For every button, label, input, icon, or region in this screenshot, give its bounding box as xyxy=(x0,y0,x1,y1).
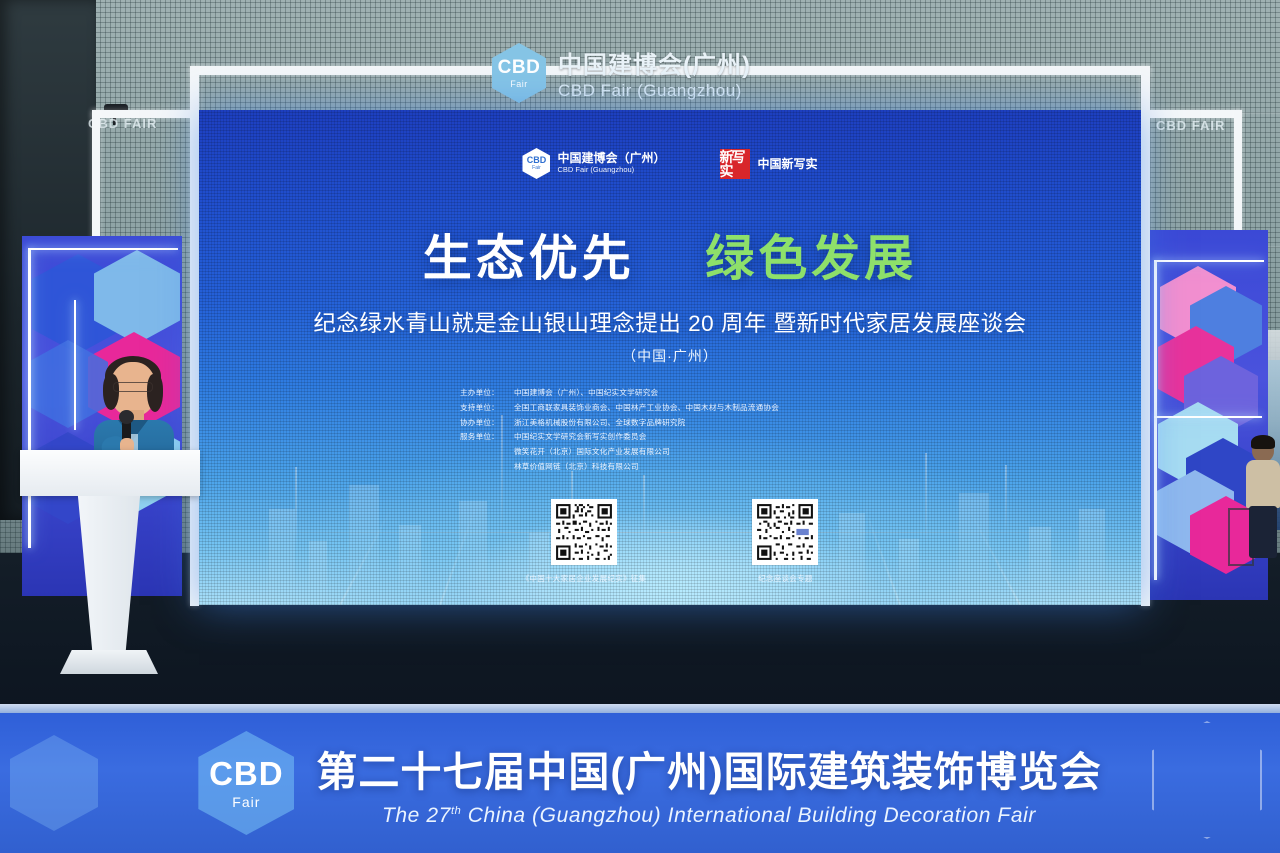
stage-front-edge xyxy=(0,704,1280,713)
led-xinxieshi-logo: 新写实 中国新写实 xyxy=(720,149,818,179)
led-qr-row: 《中国十大家居企业发展纪实》征集 xyxy=(522,499,819,584)
decor-neon-line xyxy=(74,300,76,430)
organizer-label: 支持单位： xyxy=(460,401,514,416)
led-cbd-name-cn: 中国建博会（广州） xyxy=(557,152,665,166)
speaker-hair-side xyxy=(103,374,119,410)
organizer-row: 支持单位： 全国工商联家具装饰业商会、中国林产工业协会、中国木材与木制品流通协会 xyxy=(460,401,880,416)
attendee-person xyxy=(1246,438,1280,558)
led-title-part1: 生态优先 xyxy=(423,232,635,286)
organizer-label: 服务单位： xyxy=(460,430,514,474)
header-title-cn: 中国建博会(广州) xyxy=(558,45,751,80)
attendee-torso xyxy=(1246,460,1280,508)
organizer-value-extra: 林草价值网链（北京）科技有限公司 xyxy=(514,460,880,475)
organizer-value: 浙江美格机械股份有限公司、全球数字品牌研究院 xyxy=(514,416,880,431)
stage-decor-hex-left xyxy=(10,735,98,831)
podium-top xyxy=(20,450,200,496)
decor-neon-line xyxy=(1154,416,1262,418)
microphone-head-icon xyxy=(119,410,134,424)
stage-title-cn: 第二十七届中国(广州)国际建筑装饰博览会 xyxy=(316,738,1101,798)
organizer-value: 全国工商联家具装饰业商会、中国林产工业协会、中国木材与木制品流通协会 xyxy=(514,401,880,416)
qr-code-icon[interactable] xyxy=(551,499,617,565)
speaker-glasses xyxy=(113,382,153,392)
organizer-value: 中国建博会（广州）、中国纪实文学研究会 xyxy=(514,386,880,401)
venue-header-sign: CBD Fair 中国建博会(广州) CBD Fair (Guangzhou) xyxy=(492,42,852,104)
cbd-logo-sub: Fair xyxy=(510,80,528,89)
stage-title-en-pre: The 27 xyxy=(382,804,451,827)
led-content: CBD Fair 中国建博会（广州） CBD Fair (Guangzhou) … xyxy=(199,110,1141,605)
podium-base xyxy=(60,650,158,674)
led-cbd-logo: CBD Fair 中国建博会（广州） CBD Fair (Guangzhou) xyxy=(522,148,665,179)
stage-decor-hex-right xyxy=(1152,721,1262,839)
stage-title-en-sup: th xyxy=(451,805,461,817)
organizer-row: 服务单位： 中国纪实文学研究会新写实创作委员会 微笑花开（北京）国际文化产业发展… xyxy=(460,430,880,474)
led-main-title: 生态优先 绿色发展 xyxy=(423,219,918,290)
cbd-fair-logo-icon: CBD Fair xyxy=(522,148,550,179)
attendee-hair xyxy=(1251,435,1275,449)
organizer-row: 协办单位： 浙江美格机械股份有限公司、全球数字品牌研究院 xyxy=(460,416,880,431)
stage-photo-scene: CBD FAIR CBD FAIR CBD Fair 中国建博会(广州) CBD… xyxy=(0,0,1280,853)
cbd-logo-main: CBD xyxy=(498,58,541,77)
stage-banner-texts: 第二十七届中国(广州)国际建筑装饰博览会 The 27th China (Gua… xyxy=(316,738,1101,828)
organizer-label: 主办单位： xyxy=(460,386,514,401)
qr-caption: 纪念座谈会专题 xyxy=(758,573,813,584)
cbd-logo-sub: Fair xyxy=(232,795,260,809)
led-subtitle: 纪念绿水青山就是金山银山理念提出 20 周年 暨新时代家居发展座谈会 xyxy=(313,306,1026,338)
decor-neon-line xyxy=(1154,260,1264,262)
cbd-logo-sub: Fair xyxy=(532,166,541,171)
truss-beam-right xyxy=(1141,66,1150,606)
led-xinxieshi-name: 中国新写实 xyxy=(758,155,818,172)
stage-title-en-post: China (Guangzhou) International Building… xyxy=(461,804,1036,827)
decor-neon-line xyxy=(28,248,178,250)
stage-title-en: The 27th China (Guangzhou) International… xyxy=(382,804,1036,828)
cbd-fair-logo-icon: CBD Fair xyxy=(492,43,546,103)
qr-code-icon[interactable] xyxy=(752,499,818,565)
cbd-logo-main: CBD xyxy=(527,156,547,165)
truss-arm-right xyxy=(1146,110,1242,118)
podium xyxy=(20,450,200,680)
xinxieshi-seal-icon: 新写实 xyxy=(720,149,750,179)
qr-block: 纪念座谈会专题 xyxy=(752,499,818,584)
led-organizer-block: 主办单位： 中国建博会（广州）、中国纪实文学研究会 支持单位： 全国工商联家具装… xyxy=(460,386,880,475)
organizer-value: 中国纪实文学研究会新写实创作委员会 xyxy=(514,432,647,441)
led-stage-screen: CBD Fair 中国建博会（广州） CBD Fair (Guangzhou) … xyxy=(199,110,1141,605)
stage-banner: CBD Fair 第二十七届中国(广州)国际建筑装饰博览会 The 27th C… xyxy=(0,713,1280,853)
cbd-logo-main: CBD xyxy=(209,757,284,790)
speaker-hair-side xyxy=(147,374,163,412)
led-logo-row: CBD Fair 中国建博会（广州） CBD Fair (Guangzhou) … xyxy=(522,148,817,179)
qr-block: 《中国十大家居企业发展纪实》征集 xyxy=(522,499,647,584)
led-cbd-name-en: CBD Fair (Guangzhou) xyxy=(557,166,665,175)
attendee-legs xyxy=(1249,506,1277,558)
truss-arm-left xyxy=(92,110,196,118)
wall-label-right: CBD FAIR xyxy=(1156,118,1225,133)
organizer-label: 协办单位： xyxy=(460,416,514,431)
cbd-fair-logo-icon: CBD Fair xyxy=(198,731,294,835)
qr-caption: 《中国十大家居企业发展纪实》征集 xyxy=(522,573,647,584)
led-location: （中国·广州） xyxy=(622,346,718,366)
organizer-value-extra: 微笑花开（北京）国际文化产业发展有限公司 xyxy=(514,445,880,460)
organizer-row: 主办单位： 中国建博会（广州）、中国纪实文学研究会 xyxy=(460,386,880,401)
decor-neon-line xyxy=(1154,260,1157,580)
header-title-en: CBD Fair (Guangzhou) xyxy=(558,81,751,101)
led-title-part2: 绿色发展 xyxy=(705,232,917,286)
podium-column xyxy=(72,496,146,656)
